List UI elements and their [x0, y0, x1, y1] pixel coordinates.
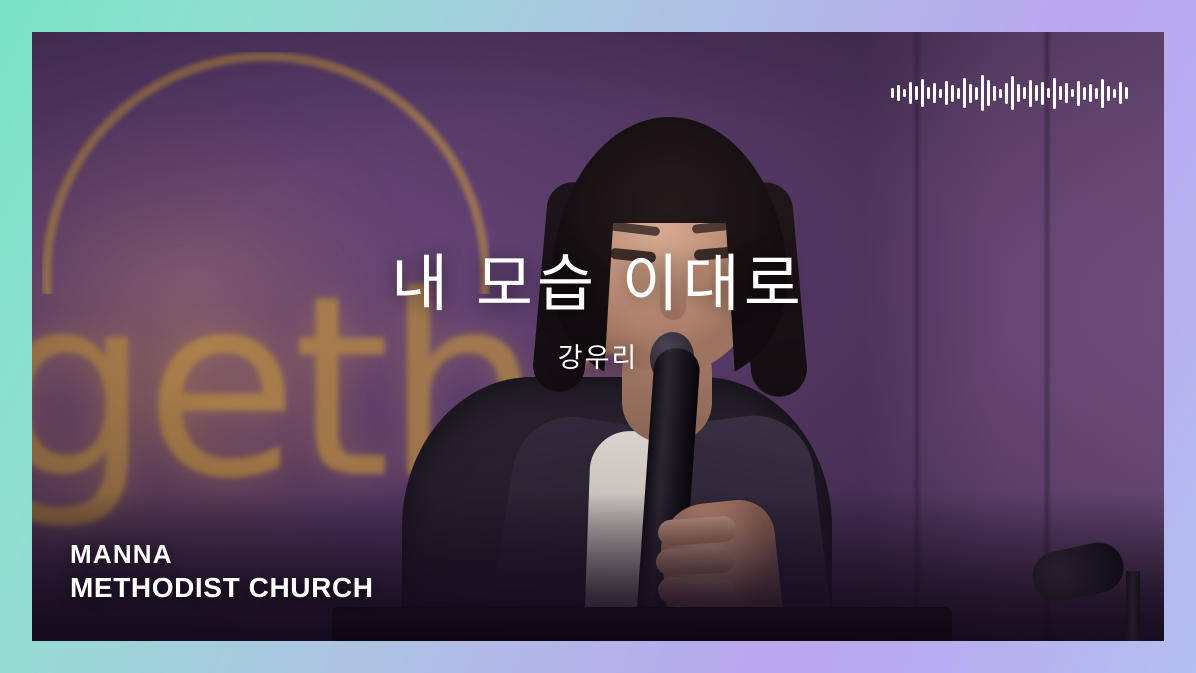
- waveform-bar: [951, 85, 954, 102]
- waveform-bar: [963, 78, 966, 108]
- waveform-bar: [891, 88, 894, 98]
- waveform-bar: [1071, 89, 1074, 97]
- waveform-bar: [993, 86, 996, 101]
- waveform-bar: [1119, 82, 1122, 104]
- waveform-bar: [1125, 87, 1128, 99]
- waveform-bar: [897, 85, 900, 101]
- waveform-bar: [987, 80, 990, 106]
- waveform-bar: [1059, 86, 1062, 100]
- waveform-bar: [969, 84, 972, 103]
- waveform-bar: [1005, 83, 1008, 104]
- waveform-bar: [915, 86, 918, 100]
- waveform-icon: [891, 70, 1128, 116]
- waveform-bar: [1017, 84, 1020, 102]
- waveform-bar: [1077, 81, 1080, 106]
- waveform-bar: [903, 89, 906, 97]
- waveform-bar: [1113, 89, 1116, 98]
- waveform-bar: [1023, 87, 1026, 99]
- church-name-line1: MANNA: [70, 538, 374, 571]
- waveform-bar: [1065, 83, 1068, 103]
- video-player-surface[interactable]: gethe: [32, 32, 1164, 641]
- waveform-bar: [1095, 88, 1098, 99]
- waveform-bar: [999, 89, 1002, 98]
- waveform-bar: [927, 87, 930, 99]
- waveform-bar: [1035, 85, 1038, 101]
- waveform-bar: [1029, 80, 1032, 107]
- waveform-bar: [1107, 86, 1110, 101]
- waveform-bar: [921, 79, 924, 107]
- waveform-bar: [1101, 79, 1104, 108]
- waveform-bar: [939, 89, 942, 98]
- waveform-bar: [933, 83, 936, 103]
- waveform-bar: [945, 81, 948, 105]
- waveform-bar: [981, 75, 984, 111]
- waveform-bar: [1053, 78, 1056, 109]
- gradient-frame: gethe: [0, 0, 1196, 673]
- waveform-bar: [909, 82, 912, 104]
- waveform-bar: [975, 87, 978, 100]
- waveform-bar: [1089, 84, 1092, 102]
- waveform-bar: [1047, 88, 1050, 98]
- waveform-bar: [1011, 76, 1014, 110]
- church-identity: MANNA METHODIST CHURCH: [70, 538, 374, 606]
- waveform-bar: [1083, 87, 1086, 100]
- waveform-bar: [1041, 82, 1044, 105]
- waveform-bar: [957, 88, 960, 99]
- church-name-line2: METHODIST CHURCH: [70, 570, 374, 605]
